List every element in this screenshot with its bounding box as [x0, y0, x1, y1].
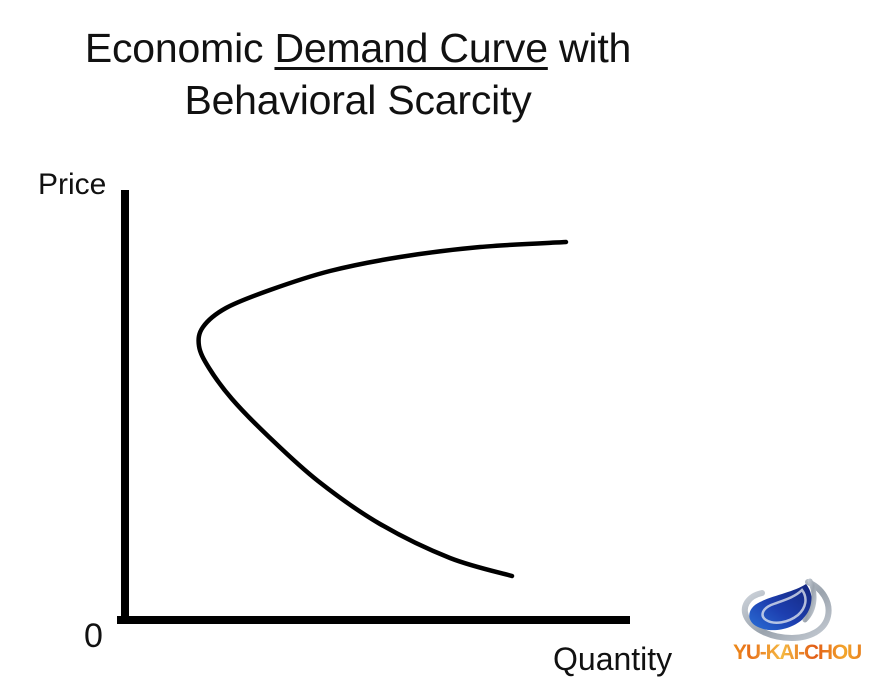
chart-axes: [117, 190, 630, 624]
y-axis: [121, 190, 129, 620]
logo-wordmark: YU-KAI-CHOU: [722, 641, 872, 665]
yukaichou-logo-icon: [736, 578, 840, 644]
x-axis: [117, 616, 630, 624]
x-axis-label: Quantity: [553, 641, 672, 677]
y-axis-label: Price: [38, 168, 106, 202]
origin-label: 0: [84, 617, 103, 655]
brand-logo: YU-KAI-CHOU: [722, 578, 872, 683]
demand-curve-line: [199, 242, 566, 576]
slide-canvas: Economic Demand Curve with Behavioral Sc…: [0, 0, 878, 690]
chart-series-group: [199, 242, 566, 576]
